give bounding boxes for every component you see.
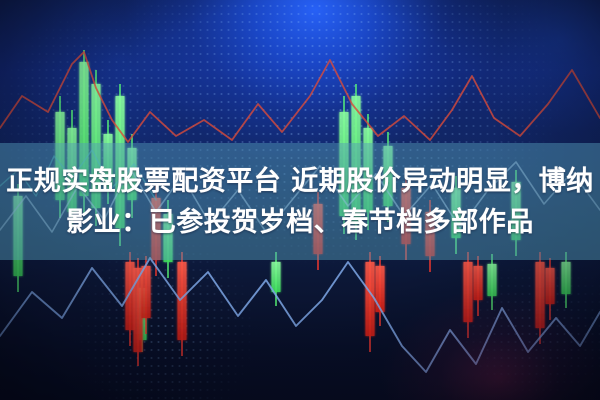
down-candle-body — [536, 262, 545, 328]
headline-band: 正规实盘股票配资平台 近期股价异动明显，博纳 影业：已参投贺岁档、春节档多部作品 — [0, 143, 600, 260]
down-candle-body — [474, 266, 483, 300]
down-candle-body — [134, 268, 143, 352]
up-candle-body — [272, 262, 281, 292]
headline-line-2: 影业：已参投贺岁档、春节档多部作品 — [66, 202, 534, 243]
up-candle-body — [488, 264, 497, 296]
headline-line-1: 正规实盘股票配资平台 近期股价异动明显，博纳 — [6, 161, 593, 202]
up-candle-body — [562, 262, 571, 294]
down-candle-body — [366, 262, 375, 336]
trend-line-lower-blue-trend — [0, 258, 600, 372]
promo-banner: 正规实盘股票配资平台 近期股价异动明显，博纳 影业：已参投贺岁档、春节档多部作品 — [0, 0, 600, 400]
down-candle-body — [376, 266, 385, 312]
down-candle-body — [178, 262, 187, 340]
down-candle-body — [464, 262, 473, 322]
trend-line-upper-red-trend — [0, 52, 600, 142]
up-candle-body — [138, 288, 147, 340]
down-candle-body — [546, 268, 555, 304]
down-candle-body — [142, 266, 151, 318]
down-candle-body — [126, 262, 135, 330]
